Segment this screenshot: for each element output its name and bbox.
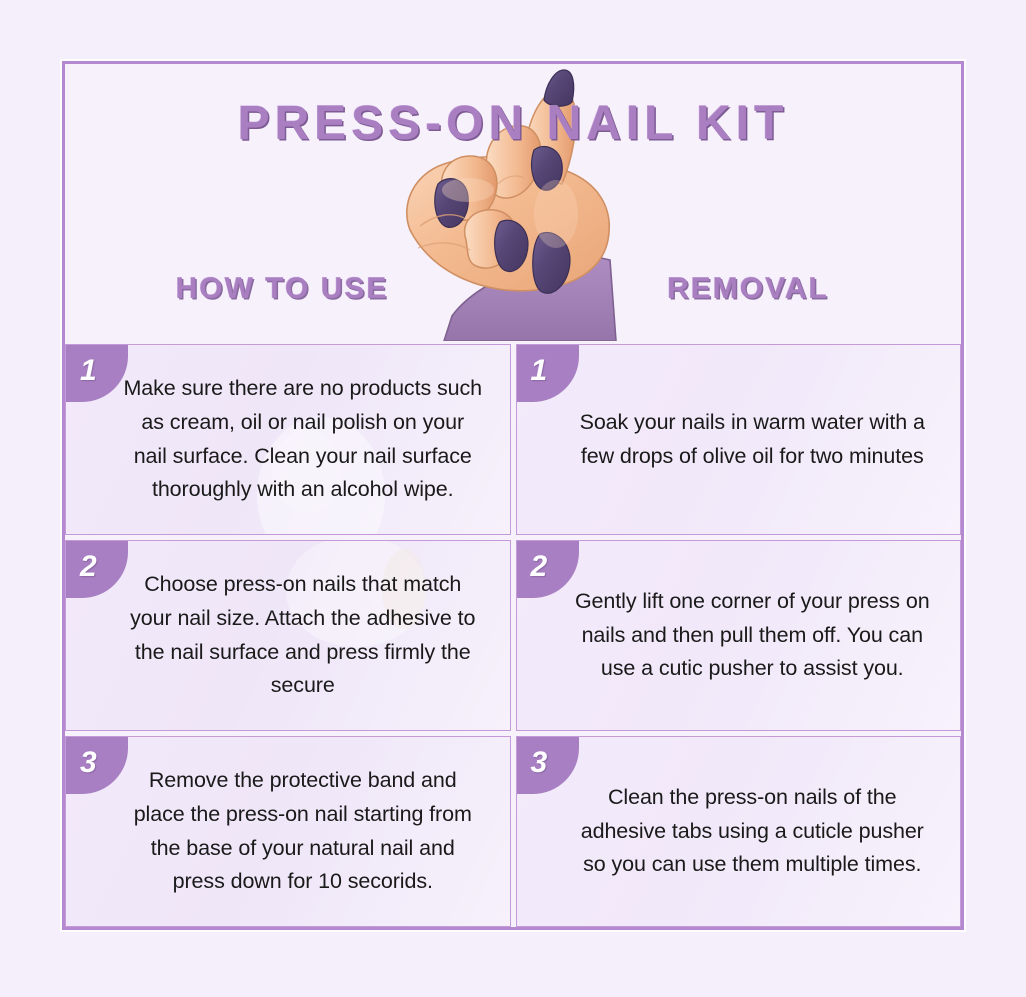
hero-section: PRESS-ON NAIL KIT <box>65 64 961 341</box>
step-text: Clean the press-on nails of the adhesive… <box>517 771 961 892</box>
removal-step-1: 1 Soak your nails in warm water with a f… <box>516 344 962 535</box>
steps-grid: 1 Make sure there are no products such a… <box>65 341 961 927</box>
step-text: Choose press-on nails that match your na… <box>66 558 510 712</box>
column-heading-removal: REMOVAL <box>553 272 943 306</box>
how-to-use-step-3: 3 Remove the protective band and place t… <box>65 736 511 927</box>
step-text: Remove the protective band and place the… <box>66 754 510 908</box>
step-text: Make sure there are no products such as … <box>66 362 510 516</box>
removal-step-3: 3 Clean the press-on nails of the adhesi… <box>516 736 962 927</box>
step-text: Gently lift one corner of your press on … <box>517 575 961 696</box>
column-heading-how-to-use: HOW TO USE <box>87 272 477 306</box>
removal-step-2: 2 Gently lift one corner of your press o… <box>516 540 962 731</box>
infographic-page: PRESS-ON NAIL KIT <box>0 0 1026 997</box>
infographic-card: PRESS-ON NAIL KIT <box>62 61 964 930</box>
how-to-use-step-2: 2 Choose press-on nails that match your … <box>65 540 511 731</box>
how-to-use-step-1: 1 Make sure there are no products such a… <box>65 344 511 535</box>
step-number-badge: 1 <box>517 345 579 402</box>
step-text: Soak your nails in warm water with a few… <box>517 396 961 483</box>
